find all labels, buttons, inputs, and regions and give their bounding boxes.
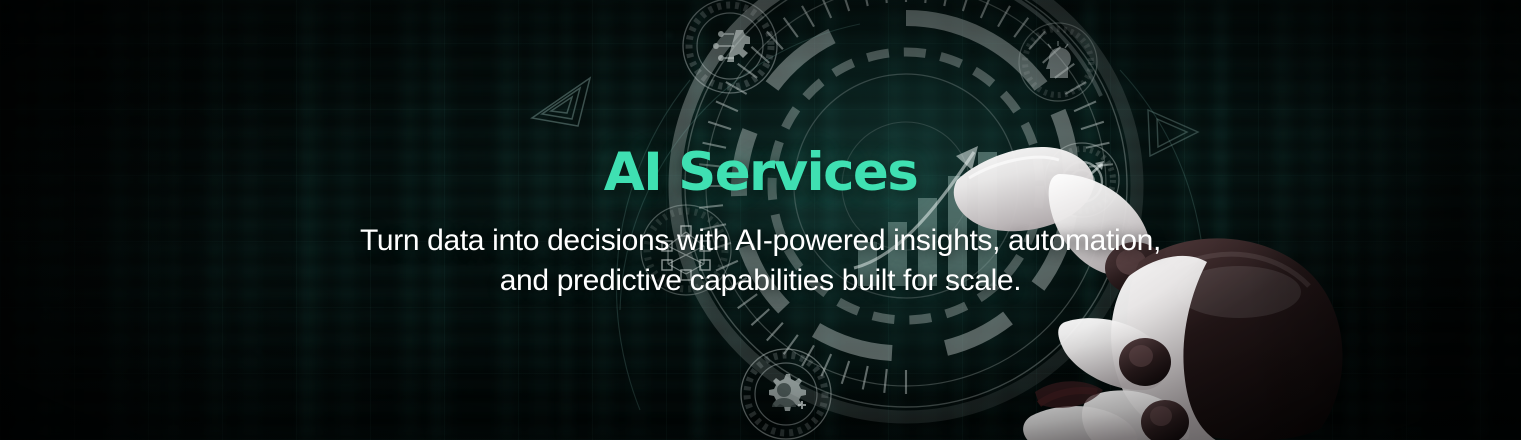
hero-subtitle: Turn data into decisions with AI-powered… [360,221,1161,300]
hero-text-content: AI Services Turn data into decisions wit… [0,0,1521,440]
page-title: AI Services [604,146,917,199]
hero-subtitle-line-1: Turn data into decisions with AI-powered… [360,221,1161,261]
ai-services-hero-banner: AI Services Turn data into decisions wit… [0,0,1521,440]
hero-subtitle-line-2: and predictive capabilities built for sc… [360,261,1161,301]
